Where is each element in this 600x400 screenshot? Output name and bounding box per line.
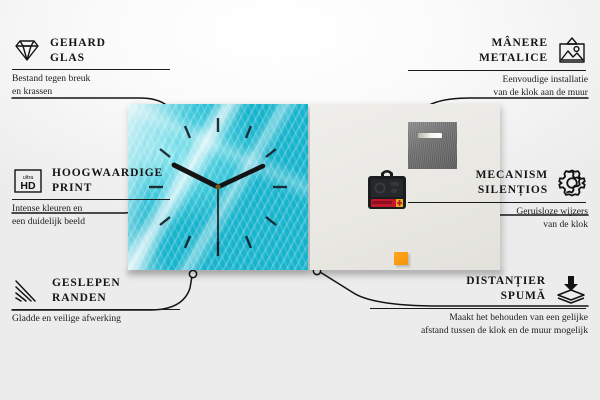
foam-spacer-icon [554, 274, 588, 304]
mechanism-hanging-loop [381, 170, 393, 177]
gear-icon [556, 168, 588, 198]
clock-center-cap [215, 184, 220, 189]
feature-distantier-spuma: DISTANȚIER SPUMĂ Maakt het behouden van … [370, 274, 588, 337]
feature-divider [370, 308, 586, 309]
infographic-canvas: GEHARD GLAS Bestand tegen breuk en krass… [0, 0, 600, 400]
feature-header: GESLEPEN RANDEN [12, 276, 182, 305]
ultra-hd-icon: ultra HD [12, 167, 44, 195]
battery-plus-h [397, 202, 402, 204]
hour-hand [174, 165, 218, 187]
feature-gehard-glas: GEHARD GLAS Bestand tegen breuk en krass… [12, 36, 172, 99]
spacer-layer-top [558, 290, 584, 300]
feature-divider [408, 70, 586, 71]
feature-title: GESLEPEN RANDEN [52, 276, 121, 305]
diamond-icon [12, 37, 42, 64]
minute-hand [218, 166, 263, 187]
feature-header: DISTANȚIER SPUMĂ [370, 274, 588, 304]
tick-10 [160, 149, 170, 157]
tick-2 [266, 149, 276, 157]
mechanism-label-a [391, 182, 399, 186]
mechanism-label-b [391, 189, 397, 193]
feature-title: DISTANȚIER SPUMĂ [466, 274, 546, 303]
quartz-clock-mechanism [367, 168, 407, 210]
feature-title: HOOGWAARDIGE PRINT [52, 166, 163, 195]
metal-hanger-plate [408, 122, 457, 169]
feature-subtitle: Maakt het behouden van een gelijke afsta… [370, 312, 588, 337]
feature-divider [12, 69, 170, 70]
tick-4 [266, 217, 276, 225]
feature-divider [408, 202, 586, 203]
tick-7 [185, 236, 190, 248]
feature-title: GEHARD GLAS [50, 36, 106, 65]
tick-1 [246, 126, 251, 138]
feature-geslepen-randen: GESLEPEN RANDEN Gladde en veilige afwerk… [12, 276, 182, 326]
wall-mount-frame-icon [556, 36, 588, 66]
feature-subtitle: Bestand tegen breuk en krassen [12, 73, 172, 98]
spacer-down-arrow [564, 276, 578, 291]
feature-mecanism-silentios: MECANISM SILENȚIOS Geruisloze wijzers va… [408, 168, 588, 231]
feature-title: MECANISM SILENȚIOS [476, 168, 548, 197]
feature-divider [12, 309, 180, 310]
ultra-hd-icon-large-label: HD [20, 180, 36, 192]
tick-5 [246, 236, 251, 248]
feature-subtitle: Eenvoudige installatie van de klok aan d… [408, 74, 588, 99]
battery-stripe [372, 201, 392, 204]
feature-hoogwaardige-print: ultra HD HOOGWAARDIGE PRINT Intense kleu… [12, 166, 172, 229]
feature-divider [12, 199, 170, 200]
orange-foam-spacer [394, 252, 408, 265]
beveled-edges-icon [12, 278, 44, 304]
feature-subtitle: Intense kleuren en een duidelijk beeld [12, 203, 172, 228]
tick-11 [185, 126, 190, 138]
feature-header: GEHARD GLAS [12, 36, 172, 65]
feature-subtitle: Geruisloze wijzers van de klok [408, 206, 588, 231]
feature-manere-metalice: MÂNERE METALICE Eenvoudige installatie v… [408, 36, 588, 99]
feature-header: MECANISM SILENȚIOS [408, 168, 588, 198]
hanger-slot [418, 133, 442, 138]
feature-title: MÂNERE METALICE [479, 36, 548, 65]
feature-subtitle: Gladde en veilige afwerking [12, 313, 182, 326]
feature-header: MÂNERE METALICE [408, 36, 588, 66]
feature-header: ultra HD HOOGWAARDIGE PRINT [12, 166, 172, 195]
